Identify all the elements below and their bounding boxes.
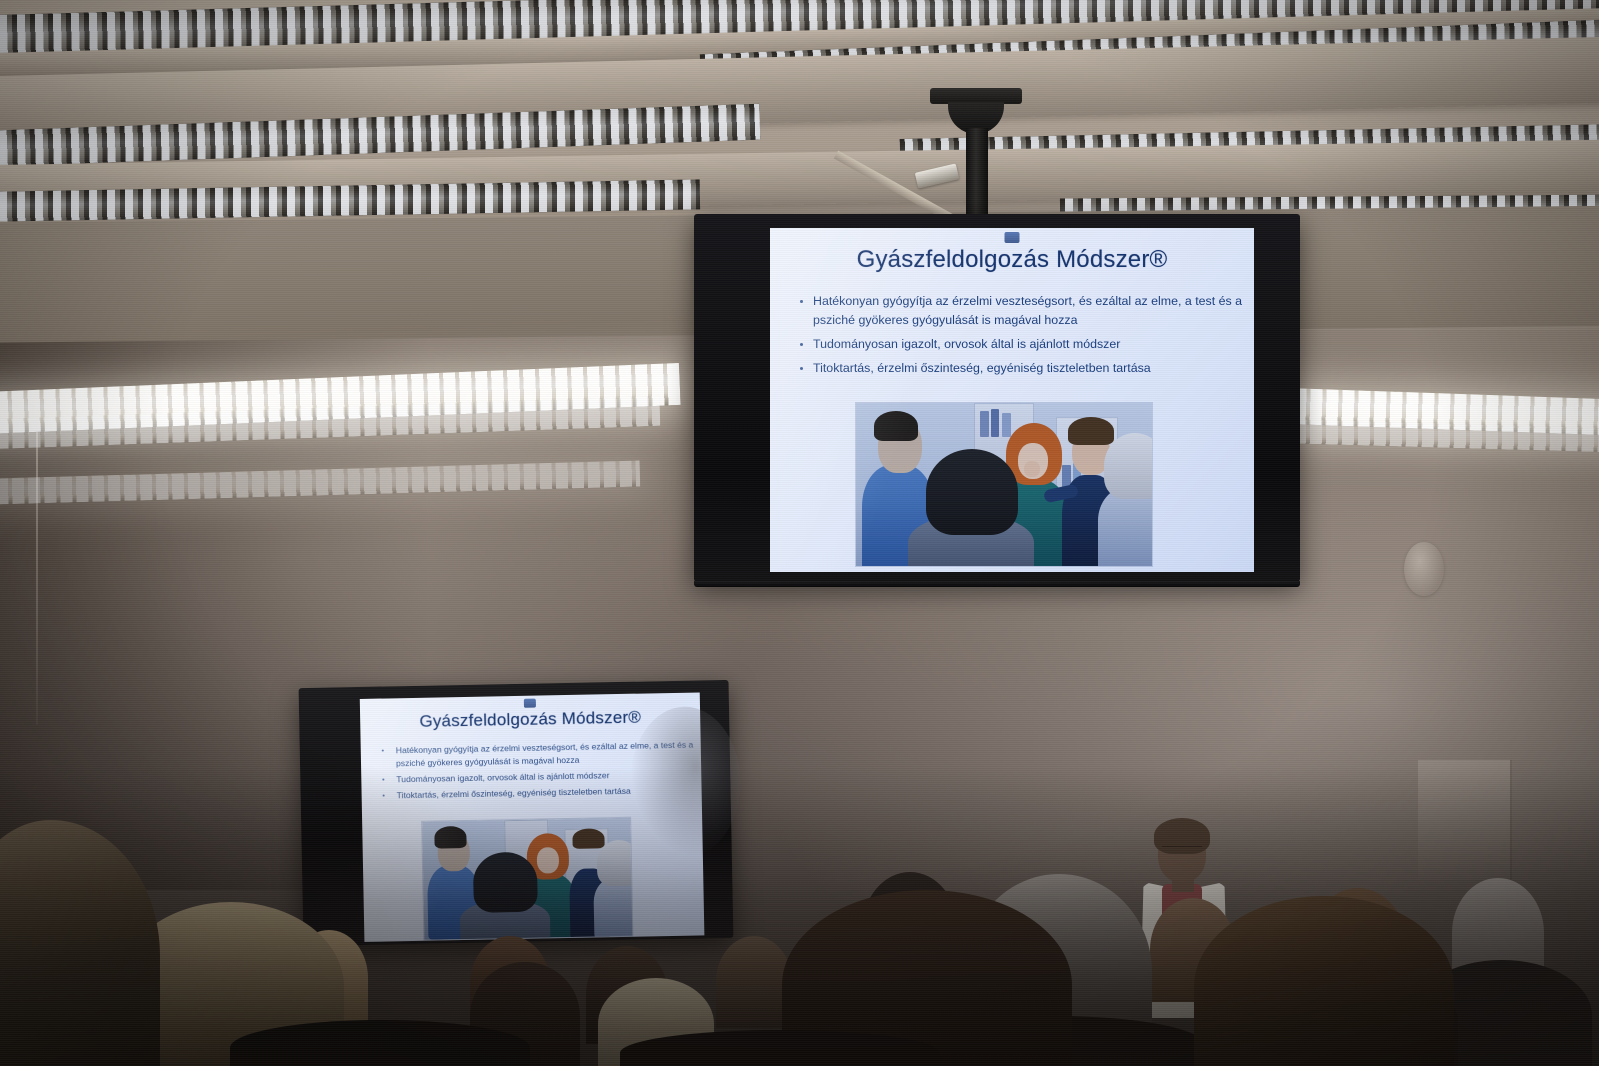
glasses-icon <box>1162 846 1202 855</box>
wall-speaker-icon <box>1404 542 1444 596</box>
secondary-display[interactable]: Gyászfeldolgozás Módszer® Hatékonyan gyó… <box>299 680 734 946</box>
main-display[interactable]: Gyászfeldolgozás Módszer® Hatékonyan gyó… <box>694 214 1300 582</box>
slide-bullet: Hatékonyan gyógyítja az érzelmi vesztesé… <box>796 292 1254 330</box>
audience-head <box>1194 896 1454 1066</box>
slide-photo <box>856 403 1152 566</box>
photo-color-cast <box>856 403 1152 566</box>
slide-photo <box>422 818 632 940</box>
slide-main: Gyászfeldolgozás Módszer® Hatékonyan gyó… <box>770 228 1254 572</box>
slide-bullet: Tudományosan igazolt, orvosok által is a… <box>796 335 1254 354</box>
audience-head <box>716 936 792 1028</box>
photo-color-cast <box>422 818 632 940</box>
slide-bullet-list: Hatékonyan gyógyítja az érzelmi vesztesé… <box>770 292 1254 383</box>
display-mount-pole <box>966 128 988 226</box>
slide-bullet: Titoktartás, érzelmi őszinteség, egyénis… <box>796 359 1254 378</box>
presentation-logo-icon <box>1005 232 1020 243</box>
presentation-room-photo: Gyászfeldolgozás Módszer® Hatékonyan gyó… <box>0 0 1599 1066</box>
slide-title: Gyászfeldolgozás Módszer® <box>770 246 1254 274</box>
presentation-logo-icon <box>524 699 536 708</box>
door <box>1418 760 1512 880</box>
